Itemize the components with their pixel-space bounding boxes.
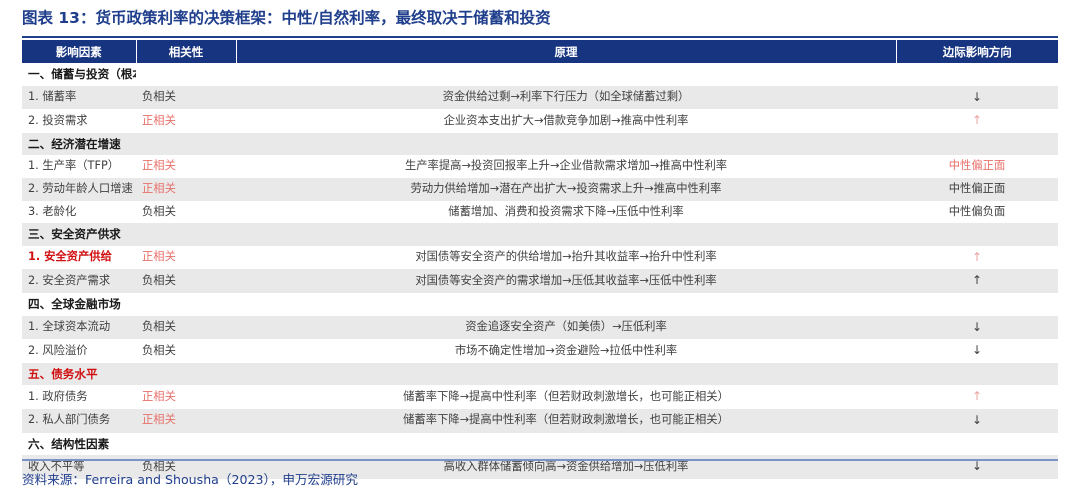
cell-correlation xyxy=(136,293,236,316)
cell-direction: ↓ xyxy=(896,409,1058,433)
cell-factor: 一、储蓄与投资（根本因素） xyxy=(22,63,136,86)
direction-arrow-icon: ↓ xyxy=(972,90,982,104)
cell-factor: 1. 全球资本流动 xyxy=(22,316,136,340)
correlation-value: 负相关 xyxy=(142,344,176,357)
table-row: 1. 全球资本流动负相关资金追逐安全资产（如美债）→压低利率↓ xyxy=(22,316,1058,340)
table-row: 2. 风险溢价负相关市场不确定性增加→资金避险→拉低中性利率↓ xyxy=(22,339,1058,363)
cell-mechanism xyxy=(236,63,896,86)
cell-direction xyxy=(896,133,1058,156)
cell-direction xyxy=(896,293,1058,316)
cell-mechanism: 资金追逐安全资产（如美债）→压低利率 xyxy=(236,316,896,340)
cell-factor: 2. 劳动年龄人口增速 xyxy=(22,178,136,201)
cell-mechanism: 劳动力供给增加→潜在产出扩大→投资需求上升→推高中性利率 xyxy=(236,178,896,201)
cell-mechanism xyxy=(236,433,896,456)
cell-direction: ↑ xyxy=(896,269,1058,293)
direction-arrow-icon: ↑ xyxy=(972,250,982,264)
table-row: 2. 劳动年龄人口增速正相关劳动力供给增加→潜在产出扩大→投资需求上升→推高中性… xyxy=(22,178,1058,201)
table-group-row: 四、全球金融市场 xyxy=(22,293,1058,316)
determinants-table: 影响因素 相关性 原理 边际影响方向 一、储蓄与投资（根本因素）1. 储蓄率负相… xyxy=(22,40,1058,479)
column-header-direction: 边际影响方向 xyxy=(896,40,1058,63)
table-row: 1. 安全资产供给正相关对国债等安全资产的供给增加→抬升其收益率→抬升中性利率↑ xyxy=(22,246,1058,270)
cell-mechanism: 生产率提高→投资回报率上升→企业借款需求增加→推高中性利率 xyxy=(236,155,896,178)
table-row: 2. 安全资产需求负相关对国债等安全资产的需求增加→压低其收益率→压低中性利率↑ xyxy=(22,269,1058,293)
table-row: 2. 投资需求正相关企业资本支出扩大→借款竞争加剧→推高中性利率↑ xyxy=(22,109,1058,133)
direction-arrow-icon: ↓ xyxy=(972,413,982,427)
cell-correlation: 正相关 xyxy=(136,385,236,409)
column-header-factor: 影响因素 xyxy=(22,40,136,63)
cell-factor: 2. 风险溢价 xyxy=(22,339,136,363)
title-divider xyxy=(22,36,1058,38)
table-group-row: 六、结构性因素 xyxy=(22,433,1058,456)
column-header-correlation: 相关性 xyxy=(136,40,236,63)
cell-correlation: 负相关 xyxy=(136,339,236,363)
cell-mechanism: 资金供给过剩→利率下行压力（如全球储蓄过剩） xyxy=(236,86,896,110)
cell-direction: 中性偏负面 xyxy=(896,201,1058,224)
cell-factor: 六、结构性因素 xyxy=(22,433,136,456)
table-row: 1. 储蓄率负相关资金供给过剩→利率下行压力（如全球储蓄过剩）↓ xyxy=(22,86,1058,110)
table-header-row: 影响因素 相关性 原理 边际影响方向 xyxy=(22,40,1058,63)
cell-correlation xyxy=(136,223,236,246)
direction-label: 中性偏正面 xyxy=(949,182,1006,195)
table-group-row: 五、债务水平 xyxy=(22,363,1058,386)
source-note: 资料来源：Ferreira and Shousha（2023），申万宏源研究 xyxy=(22,469,358,488)
cell-factor: 2. 投资需求 xyxy=(22,109,136,133)
cell-factor: 2. 私人部门债务 xyxy=(22,409,136,433)
cell-direction: ↓ xyxy=(896,339,1058,363)
direction-arrow-icon: ↑ xyxy=(972,273,982,287)
table-row: 2. 私人部门债务正相关储蓄率下降→提高中性利率（但若财政刺激增长，也可能正相关… xyxy=(22,409,1058,433)
table-group-row: 二、经济潜在增速 xyxy=(22,133,1058,156)
correlation-value: 负相关 xyxy=(142,90,176,103)
direction-label: 中性偏正面 xyxy=(949,159,1006,172)
direction-arrow-icon: ↓ xyxy=(972,343,982,357)
correlation-value: 负相关 xyxy=(142,205,176,218)
table-group-row: 一、储蓄与投资（根本因素） xyxy=(22,63,1058,86)
cell-correlation: 正相关 xyxy=(136,409,236,433)
cell-correlation: 负相关 xyxy=(136,269,236,293)
table-header: 影响因素 相关性 原理 边际影响方向 xyxy=(22,40,1058,63)
cell-factor: 1. 政府债务 xyxy=(22,385,136,409)
cell-direction: ↑ xyxy=(896,385,1058,409)
cell-correlation: 负相关 xyxy=(136,201,236,224)
cell-mechanism: 储蓄率下降→提高中性利率（但若财政刺激增长，也可能正相关） xyxy=(236,385,896,409)
table-row: 1. 生产率（TFP）正相关生产率提高→投资回报率上升→企业借款需求增加→推高中… xyxy=(22,155,1058,178)
cell-correlation: 负相关 xyxy=(136,86,236,110)
correlation-value: 正相关 xyxy=(142,413,176,426)
cell-direction xyxy=(896,433,1058,456)
cell-correlation xyxy=(136,363,236,386)
direction-label: 中性偏负面 xyxy=(949,205,1006,218)
cell-factor: 1. 储蓄率 xyxy=(22,86,136,110)
figure-container: 图表 13：货币政策利率的决策框架：中性/自然利率，最终取决于储蓄和投资 影响因… xyxy=(0,0,1080,497)
cell-direction: ↑ xyxy=(896,246,1058,270)
direction-arrow-icon: ↑ xyxy=(972,113,982,127)
cell-factor: 1. 安全资产供给 xyxy=(22,246,136,270)
cell-direction: ↓ xyxy=(896,86,1058,110)
correlation-value: 正相关 xyxy=(142,114,176,127)
cell-direction: 中性偏正面 xyxy=(896,178,1058,201)
direction-arrow-icon: ↓ xyxy=(972,320,982,334)
cell-mechanism: 储蓄增加、消费和投资需求下降→压低中性利率 xyxy=(236,201,896,224)
cell-correlation xyxy=(136,433,236,456)
cell-mechanism: 对国债等安全资产的供给增加→抬升其收益率→抬升中性利率 xyxy=(236,246,896,270)
correlation-value: 正相关 xyxy=(142,390,176,403)
cell-factor: 二、经济潜在增速 xyxy=(22,133,136,156)
cell-mechanism xyxy=(236,363,896,386)
correlation-value: 正相关 xyxy=(142,250,176,263)
cell-mechanism xyxy=(236,293,896,316)
cell-mechanism: 对国债等安全资产的需求增加→压低其收益率→压低中性利率 xyxy=(236,269,896,293)
direction-arrow-icon: ↓ xyxy=(972,459,982,473)
cell-correlation: 正相关 xyxy=(136,155,236,178)
correlation-value: 正相关 xyxy=(142,159,176,172)
cell-mechanism: 储蓄率下降→提高中性利率（但若财政刺激增长，也可能正相关） xyxy=(236,409,896,433)
table-row: 3. 老龄化负相关储蓄增加、消费和投资需求下降→压低中性利率中性偏负面 xyxy=(22,201,1058,224)
column-header-mechanism: 原理 xyxy=(236,40,896,63)
correlation-value: 负相关 xyxy=(142,320,176,333)
table-row: 1. 政府债务正相关储蓄率下降→提高中性利率（但若财政刺激增长，也可能正相关）↑ xyxy=(22,385,1058,409)
direction-arrow-icon: ↑ xyxy=(972,389,982,403)
figure-title-wrap: 图表 13：货币政策利率的决策框架：中性/自然利率，最终取决于储蓄和投资 xyxy=(22,8,1058,28)
cell-factor: 三、安全资产供求 xyxy=(22,223,136,246)
cell-factor: 2. 安全资产需求 xyxy=(22,269,136,293)
cell-correlation: 正相关 xyxy=(136,246,236,270)
cell-mechanism xyxy=(236,133,896,156)
cell-direction: 中性偏正面 xyxy=(896,155,1058,178)
cell-correlation xyxy=(136,133,236,156)
cell-direction: ↑ xyxy=(896,109,1058,133)
cell-direction: ↓ xyxy=(896,316,1058,340)
cell-correlation: 负相关 xyxy=(136,316,236,340)
cell-factor: 五、债务水平 xyxy=(22,363,136,386)
cell-mechanism: 市场不确定性增加→资金避险→拉低中性利率 xyxy=(236,339,896,363)
cell-correlation: 正相关 xyxy=(136,178,236,201)
cell-factor: 四、全球金融市场 xyxy=(22,293,136,316)
cell-factor: 1. 生产率（TFP） xyxy=(22,155,136,178)
cell-direction xyxy=(896,363,1058,386)
table-body: 一、储蓄与投资（根本因素）1. 储蓄率负相关资金供给过剩→利率下行压力（如全球储… xyxy=(22,63,1058,479)
correlation-value: 负相关 xyxy=(142,274,176,287)
cell-factor: 3. 老龄化 xyxy=(22,201,136,224)
cell-correlation xyxy=(136,63,236,86)
cell-correlation: 正相关 xyxy=(136,109,236,133)
cell-direction xyxy=(896,63,1058,86)
page-title: 图表 13：货币政策利率的决策框架：中性/自然利率，最终取决于储蓄和投资 xyxy=(22,8,1058,28)
cell-direction xyxy=(896,223,1058,246)
cell-mechanism xyxy=(236,223,896,246)
cell-mechanism: 企业资本支出扩大→借款竞争加剧→推高中性利率 xyxy=(236,109,896,133)
table-group-row: 三、安全资产供求 xyxy=(22,223,1058,246)
correlation-value: 正相关 xyxy=(142,182,176,195)
footer-divider xyxy=(22,459,1058,461)
